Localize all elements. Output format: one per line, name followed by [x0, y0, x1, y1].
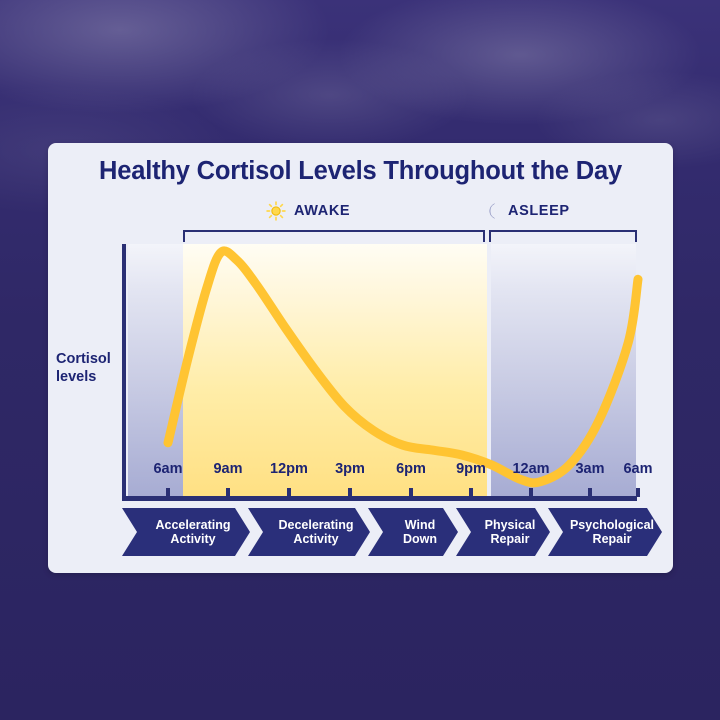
x-tick-label-3pm: 3pm — [335, 461, 365, 477]
x-tick-5 — [469, 488, 473, 497]
x-tick-label-6am: 6am — [623, 461, 652, 477]
phase-arrow-label-line2: Activity — [278, 532, 353, 546]
phase-arrow-1[interactable]: DeceleratingActivity — [248, 508, 370, 556]
legend-awake-label: AWAKE — [294, 203, 350, 219]
phase-arrow-label-line1: Accelerating — [155, 518, 230, 532]
x-tick-label-3am: 3am — [575, 461, 604, 477]
x-tick-2 — [287, 488, 291, 497]
legend-awake: AWAKE — [266, 201, 350, 221]
y-axis-label-line2: levels — [56, 369, 120, 387]
x-tick-8 — [636, 488, 640, 497]
bracket-awake — [183, 230, 485, 242]
x-tick-label-6pm: 6pm — [396, 461, 426, 477]
phase-arrow-band: AcceleratingActivityDeceleratingActivity… — [122, 508, 662, 556]
phase-arrow-4[interactable]: PsychologicalRepair — [548, 508, 662, 556]
phase-arrow-label-line1: Decelerating — [278, 518, 353, 532]
phase-arrow-label-line2: Down — [403, 532, 437, 546]
legend-asleep: ASLEEP — [482, 201, 570, 221]
phase-arrow-label-line1: Physical — [485, 518, 536, 532]
x-tick-label-12pm: 12pm — [270, 461, 308, 477]
sun-icon — [266, 201, 286, 221]
x-axis-line — [122, 496, 637, 501]
y-axis-label: Cortisol levels — [56, 351, 120, 386]
x-tick-label-6am: 6am — [153, 461, 182, 477]
bracket-asleep — [489, 230, 637, 242]
phase-arrow-3[interactable]: PhysicalRepair — [456, 508, 550, 556]
moon-icon — [482, 201, 500, 221]
x-tick-3 — [348, 488, 352, 497]
phase-arrow-label-line2: Activity — [155, 532, 230, 546]
x-tick-4 — [409, 488, 413, 497]
x-tick-label-9am: 9am — [213, 461, 242, 477]
phase-arrow-label-line1: Psychological — [570, 518, 654, 532]
x-tick-label-9pm: 9pm — [456, 461, 486, 477]
cortisol-curve — [122, 244, 637, 496]
phase-arrow-2[interactable]: WindDown — [368, 508, 458, 556]
x-tick-label-12am: 12am — [512, 461, 549, 477]
page-title: Healthy Cortisol Levels Throughout the D… — [48, 157, 673, 186]
infographic-card: Healthy Cortisol Levels Throughout the D… — [48, 143, 673, 573]
phase-arrow-0[interactable]: AcceleratingActivity — [122, 508, 250, 556]
chart-plot-area — [122, 244, 637, 496]
legend-asleep-label: ASLEEP — [508, 203, 570, 219]
x-tick-6 — [529, 488, 533, 497]
x-tick-1 — [226, 488, 230, 497]
phase-arrow-label-line2: Repair — [485, 532, 536, 546]
phase-arrow-label-line2: Repair — [570, 532, 654, 546]
x-tick-0 — [166, 488, 170, 497]
x-tick-7 — [588, 488, 592, 497]
phase-arrow-label-line1: Wind — [403, 518, 437, 532]
y-axis-label-line1: Cortisol — [56, 351, 120, 369]
